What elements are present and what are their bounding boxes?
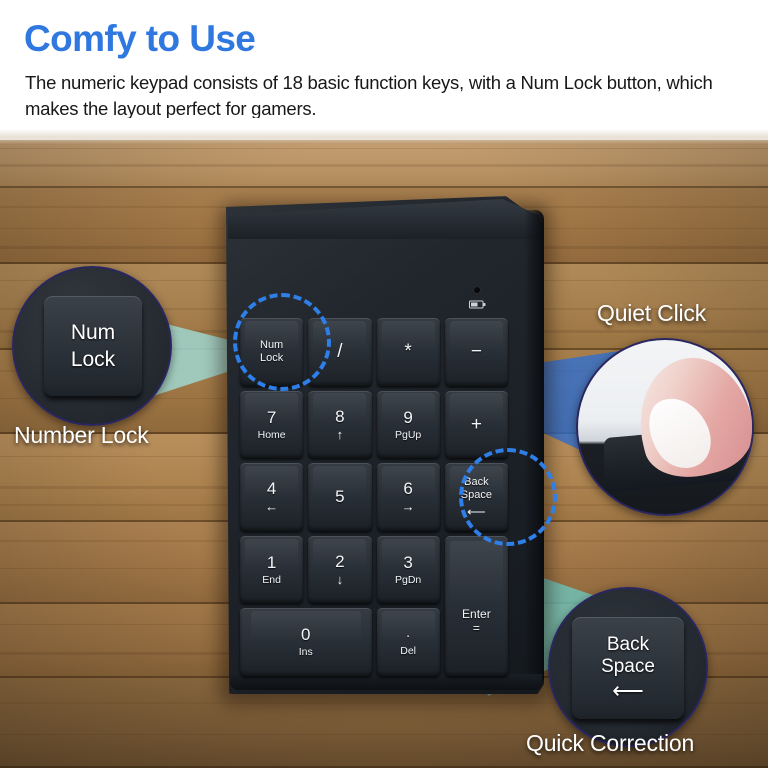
product-feature-image: Num Lock / * − 7 Home 8 ↑ 9 [0,0,768,768]
key-multiply[interactable]: * [377,318,440,386]
zoom-arrow-backspace-icon: ⟵ [612,680,644,702]
key-label: 6 [403,480,412,497]
page-subtitle: The numeric keypad consists of 18 basic … [25,70,715,122]
arrow-down-icon: ↓ [337,573,344,586]
key-sublabel: PgUp [395,430,421,441]
key-label: 3 [403,554,412,571]
callout-label-number-lock: Number Lock [14,422,149,449]
key-label: 9 [403,409,412,426]
key-3-pgdn[interactable]: 3 PgDn [377,536,440,604]
zoomed-num-lock-key: Num Lock [44,296,142,396]
key-0-ins[interactable]: 0 Ins [240,608,372,676]
zoomed-backspace-key: Back Space ⟵ [572,617,684,719]
key-sublabel: Home [258,430,286,441]
keypad-base [230,674,542,690]
key-label: − [471,342,482,361]
key-sublabel: PgDn [395,575,421,586]
key-1-end[interactable]: 1 End [240,536,303,604]
arrow-right-icon: → [402,500,415,513]
key-label: · [406,628,411,642]
callout-label-quiet-click: Quiet Click [597,300,706,327]
key-label: 4 [267,480,276,497]
key-4-left[interactable]: 4 ← [240,463,303,531]
callout-quiet-click [576,338,754,516]
key-8-up[interactable]: 8 ↑ [308,391,371,459]
key-enter[interactable]: Enter = [445,536,508,676]
zoom-key-label-line1: Back [607,634,649,656]
header-fade-divider [0,118,768,144]
key-7-home[interactable]: 7 Home [240,391,303,459]
key-label: + [471,415,482,434]
highlight-circle-backspace [459,448,557,546]
key-label: * [404,342,411,361]
callout-quick-correction: Back Space ⟵ [548,587,708,747]
key-6-right[interactable]: 6 → [377,463,440,531]
key-label: 1 [267,554,276,571]
key-9-pgup[interactable]: 9 PgUp [377,391,440,459]
arrow-left-icon: ← [265,500,278,513]
zoom-key-label-line2: Space [601,656,655,678]
highlight-circle-num-lock [233,293,331,391]
callout-label-quick-correction: Quick Correction [526,730,694,757]
page-title: Comfy to Use [24,18,255,60]
numeric-keypad[interactable]: Num Lock / * − 7 Home 8 ↑ 9 [226,196,544,696]
key-label: 0 [301,626,310,643]
key-sublabel: Del [400,646,416,657]
key-label: 2 [335,553,344,570]
key-period-del[interactable]: · Del [377,608,440,676]
key-label: / [337,342,342,361]
key-label: 8 [335,408,344,425]
zoom-key-label-line2: Lock [71,346,115,373]
key-2-down[interactable]: 2 ↓ [308,536,371,604]
key-minus[interactable]: − [445,318,508,386]
keypad-right-edge [524,210,544,686]
battery-icon [469,300,486,309]
key-sublabel: End [262,575,281,586]
key-label: 5 [335,488,344,505]
callout-number-lock: Num Lock [12,266,172,426]
arrow-up-icon: ↑ [337,428,344,441]
zoom-key-label-line1: Num [71,319,115,346]
key-sublabel: = [473,622,480,634]
key-5[interactable]: 5 [308,463,371,531]
key-label: Enter [462,608,491,620]
key-sublabel: Ins [299,647,313,658]
key-label: 7 [267,409,276,426]
status-led [474,287,480,293]
